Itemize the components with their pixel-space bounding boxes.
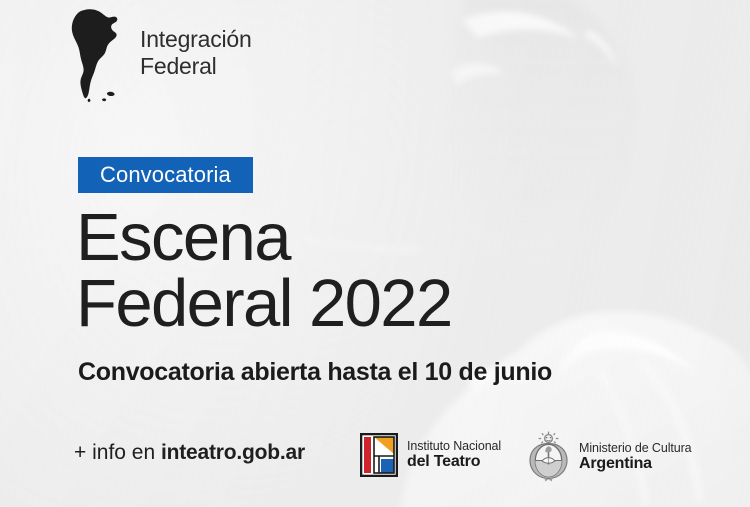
logo-ministerio-de-cultura: Ministerio de Cultura Argentina bbox=[527, 431, 692, 483]
int-logo-line-1: Instituto Nacional bbox=[407, 439, 501, 453]
badge-label: Convocatoria bbox=[100, 162, 231, 188]
website-url[interactable]: inteatro.gob.ar bbox=[161, 441, 305, 464]
more-info-prefix: + info en bbox=[74, 441, 155, 464]
int-square-logo-icon bbox=[360, 433, 398, 477]
brand-name: Integración Federal bbox=[140, 26, 252, 86]
brand-lockup: Integración Federal bbox=[64, 8, 252, 104]
brand-line-1: Integración bbox=[140, 26, 252, 53]
ministerio-logo-text: Ministerio de Cultura Argentina bbox=[579, 441, 692, 473]
logo-instituto-nacional-del-teatro: Instituto Nacional del Teatro bbox=[360, 433, 501, 477]
ministerio-logo-line-1: Ministerio de Cultura bbox=[579, 441, 692, 455]
title-line-2: Federal 2022 bbox=[76, 271, 452, 337]
brand-line-2: Federal bbox=[140, 53, 252, 80]
int-logo-text: Instituto Nacional del Teatro bbox=[407, 439, 501, 471]
convocatoria-badge: Convocatoria bbox=[78, 157, 253, 193]
more-info-line: + info en inteatro.gob.ar bbox=[74, 441, 305, 465]
argentina-coat-of-arms-icon bbox=[527, 431, 570, 483]
title-line-1: Escena bbox=[76, 205, 452, 271]
deadline-subtitle: Convocatoria abierta hasta el 10 de juni… bbox=[78, 358, 552, 387]
poster-canvas: Integración Federal Convocatoria Escena … bbox=[0, 0, 750, 507]
argentina-map-icon bbox=[64, 8, 126, 104]
int-logo-line-2: del Teatro bbox=[407, 453, 501, 471]
ministerio-logo-line-2: Argentina bbox=[579, 455, 692, 473]
page-title: Escena Federal 2022 bbox=[76, 205, 452, 336]
footer: + info en inteatro.gob.ar Instituto Naci… bbox=[0, 417, 750, 507]
